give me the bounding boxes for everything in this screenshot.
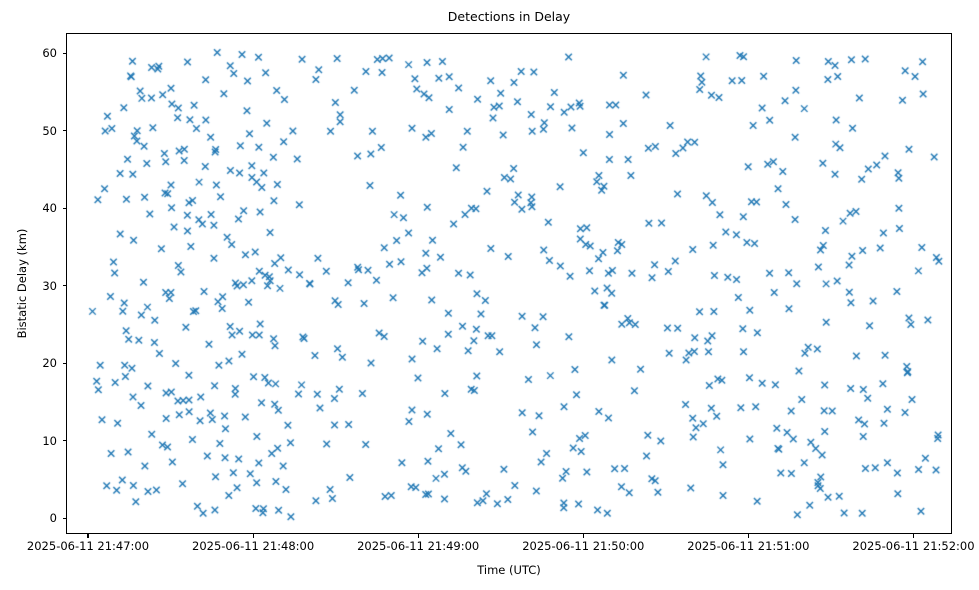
x-tick-label: 2025-06-11 21:52:00	[838, 540, 979, 553]
x-tick-mark	[87, 534, 88, 538]
y-tick-label: 10	[42, 435, 57, 447]
y-axis-label: Bistatic Delay (km)	[14, 33, 30, 534]
y-tick-label: 30	[42, 280, 57, 292]
x-tick-label: 2025-06-11 21:48:00	[178, 540, 328, 553]
y-tick-mark	[63, 53, 67, 54]
x-tick-label: 2025-06-11 21:50:00	[508, 540, 658, 553]
figure-canvas: Detections in Delay 0102030405060 2025-0…	[0, 0, 979, 590]
y-tick-label: 60	[42, 47, 57, 59]
y-tick-mark	[63, 518, 67, 519]
x-tick-mark	[583, 534, 584, 538]
x-tick-mark	[253, 534, 254, 538]
x-tick-mark	[418, 534, 419, 538]
x-tick-mark	[748, 534, 749, 538]
y-tick-mark	[63, 130, 67, 131]
plot-area	[66, 33, 952, 534]
x-tick-label: 2025-06-11 21:47:00	[13, 540, 163, 553]
x-tick-label: 2025-06-11 21:49:00	[343, 540, 493, 553]
y-axis-label-holder: Bistatic Delay (km)	[14, 33, 30, 534]
y-tick-mark	[63, 363, 67, 364]
y-tick-mark	[63, 440, 67, 441]
y-tick-label: 40	[42, 202, 57, 214]
y-tick-mark	[63, 285, 67, 286]
scatter-series	[67, 34, 952, 534]
y-tick-label: 0	[50, 512, 57, 524]
y-tick-mark	[63, 208, 67, 209]
x-axis-label: Time (UTC)	[66, 563, 952, 577]
page-title: Detections in Delay	[66, 10, 952, 24]
y-tick-label: 20	[42, 357, 57, 369]
x-tick-label: 2025-06-11 21:51:00	[673, 540, 823, 553]
y-tick-label: 50	[42, 125, 57, 137]
x-tick-mark	[913, 534, 914, 538]
